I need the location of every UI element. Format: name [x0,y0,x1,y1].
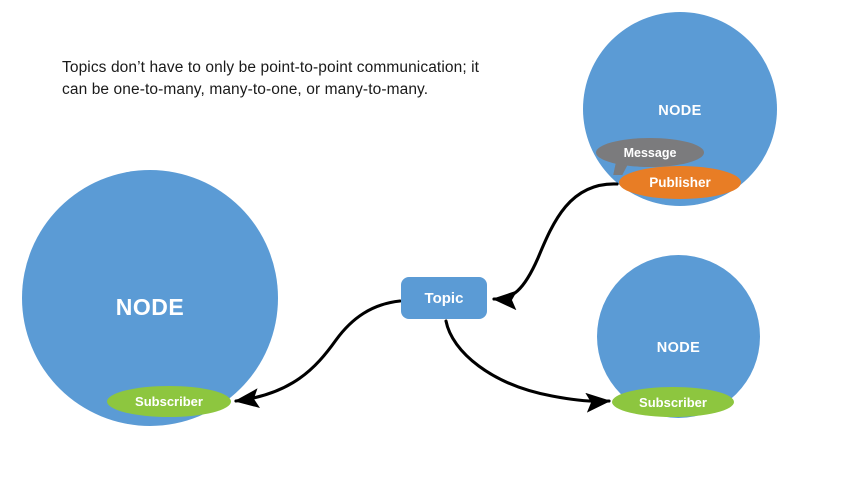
diagram-slide: Topics don’t have to only be point-to-po… [0,0,854,480]
arrow-topic-to-right-subscriber [446,321,609,401]
publisher-pill[interactable]: Publisher [619,166,741,199]
node-label-bottom-right: NODE [597,340,760,356]
subscriber-pill-left[interactable]: Subscriber [107,386,231,417]
node-label-left: NODE [22,294,278,321]
message-callout[interactable]: Message [596,138,704,167]
subscriber-pill-bottom-right[interactable]: Subscriber [612,387,734,417]
topic-box[interactable]: Topic [401,277,487,319]
caption-text: Topics don’t have to only be point-to-po… [62,57,482,102]
arrow-publisher-to-topic [494,184,617,299]
node-label-top-right: NODE [583,103,777,119]
